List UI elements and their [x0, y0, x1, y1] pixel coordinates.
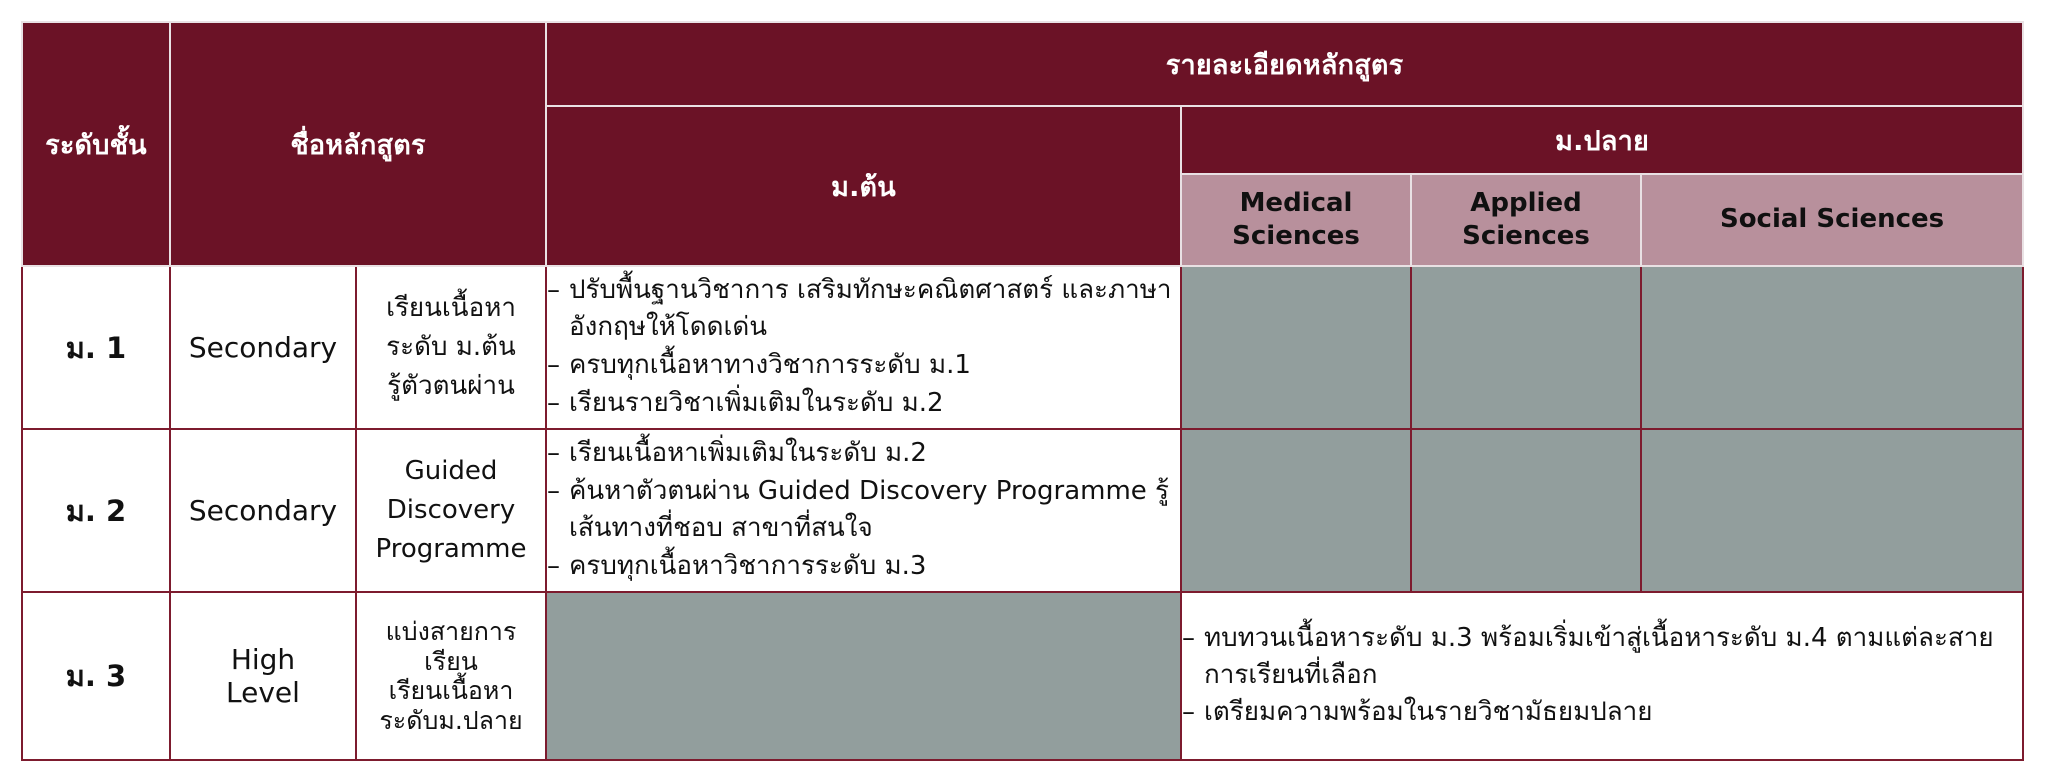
description-line: เรียน	[357, 647, 545, 677]
cell-track-applied-empty	[1411, 429, 1641, 592]
bullet-dash: –	[547, 385, 560, 422]
detail-list: –เรียนเนื้อหาเพิ่มเติมในระดับ ม.2 –ค้นหา…	[547, 435, 1180, 585]
list-item: –ปรับพื้นฐานวิชาการ เสริมทักษะคณิตศาสตร์…	[547, 272, 1180, 346]
header-track-social-sciences: Social Sciences	[1641, 174, 2023, 266]
description-line: Discovery	[357, 491, 545, 530]
cell-description: เรียนเนื้อหา ระดับ ม.ต้น รู้ตัวตนผ่าน	[356, 266, 546, 429]
curriculum-table-page: ระดับชั้น ชื่อหลักสูตร รายละเอียดหลักสูต…	[0, 0, 2048, 784]
list-item-text: เรียนรายวิชาเพิ่มเติมในระดับ ม.2	[569, 388, 944, 418]
table-body: ม. 1 Secondary เรียนเนื้อหา ระดับ ม.ต้น …	[22, 266, 2023, 760]
bullet-dash: –	[547, 347, 560, 384]
bullet-dash: –	[547, 272, 560, 309]
table-row: ม. 2 Secondary Guided Discovery Programm…	[22, 429, 2023, 592]
bullet-dash: –	[1182, 694, 1195, 731]
cell-level: ม. 1	[22, 266, 170, 429]
description-line: ระดับ ม.ต้น	[357, 328, 545, 367]
list-item-text: ครบทุกเนื้อหาวิชาการระดับ ม.3	[569, 551, 926, 581]
header-course-name: ชื่อหลักสูตร	[170, 22, 546, 266]
programme-line: High	[171, 643, 355, 676]
list-item-text: ค้นหาตัวตนผ่าน Guided Discovery Programm…	[569, 476, 1169, 543]
list-item-text: เตรียมความพร้อมในรายวิชามัธยมปลาย	[1204, 697, 1652, 727]
list-item-text: ปรับพื้นฐานวิชาการ เสริมทักษะคณิตศาสตร์ …	[569, 275, 1171, 342]
description-line: รู้ตัวตนผ่าน	[357, 367, 545, 406]
header-upper-secondary: ม.ปลาย	[1181, 106, 2023, 174]
bullet-dash: –	[1182, 620, 1195, 657]
cell-track-social-empty	[1641, 266, 2023, 429]
table-head: ระดับชั้น ชื่อหลักสูตร รายละเอียดหลักสูต…	[22, 22, 2023, 266]
bullet-dash: –	[547, 548, 560, 585]
cell-programme: Secondary	[170, 429, 356, 592]
cell-track-medical-empty	[1181, 429, 1411, 592]
cell-upper-secondary-detail: –ทบทวนเนื้อหาระดับ ม.3 พร้อมเริ่มเข้าสู่…	[1181, 592, 2023, 760]
header-track-applied-sciences: Applied Sciences	[1411, 174, 1641, 266]
list-item-text: เรียนเนื้อหาเพิ่มเติมในระดับ ม.2	[569, 438, 927, 468]
cell-programme: Secondary	[170, 266, 356, 429]
description-line: เรียนเนื้อหา	[357, 289, 545, 328]
programme-line: Level	[171, 676, 355, 709]
cell-description: Guided Discovery Programme	[356, 429, 546, 592]
header-curriculum-detail: รายละเอียดหลักสูตร	[546, 22, 2023, 106]
header-track-medical-sciences: Medical Sciences	[1181, 174, 1411, 266]
cell-description: แบ่งสายการ เรียน เรียนเนื้อหา ระดับม.ปลา…	[356, 592, 546, 760]
cell-level: ม. 3	[22, 592, 170, 760]
cell-programme: High Level	[170, 592, 356, 760]
list-item: –ครบทุกเนื้อหาทางวิชาการระดับ ม.1	[547, 347, 1180, 384]
detail-list: –ทบทวนเนื้อหาระดับ ม.3 พร้อมเริ่มเข้าสู่…	[1182, 620, 2022, 732]
cell-track-applied-empty	[1411, 266, 1641, 429]
list-item-text: ครบทุกเนื้อหาทางวิชาการระดับ ม.1	[569, 350, 971, 380]
bullet-dash: –	[547, 473, 560, 510]
cell-lower-secondary-detail: –เรียนเนื้อหาเพิ่มเติมในระดับ ม.2 –ค้นหา…	[546, 429, 1181, 592]
cell-track-social-empty	[1641, 429, 2023, 592]
table-row: ม. 1 Secondary เรียนเนื้อหา ระดับ ม.ต้น …	[22, 266, 2023, 429]
detail-list: –ปรับพื้นฐานวิชาการ เสริมทักษะคณิตศาสตร์…	[547, 272, 1180, 422]
curriculum-comparison-table: ระดับชั้น ชื่อหลักสูตร รายละเอียดหลักสูต…	[21, 21, 2024, 761]
list-item: –เตรียมความพร้อมในรายวิชามัธยมปลาย	[1182, 694, 2022, 731]
list-item: –ครบทุกเนื้อหาวิชาการระดับ ม.3	[547, 548, 1180, 585]
header-row-1: ระดับชั้น ชื่อหลักสูตร รายละเอียดหลักสูต…	[22, 22, 2023, 106]
description-line: Guided	[357, 452, 545, 491]
header-lower-secondary: ม.ต้น	[546, 106, 1181, 266]
description-line: ระดับม.ปลาย	[357, 706, 545, 736]
header-level: ระดับชั้น	[22, 22, 170, 266]
cell-lower-secondary-detail: –ปรับพื้นฐานวิชาการ เสริมทักษะคณิตศาสตร์…	[546, 266, 1181, 429]
list-item: –เรียนรายวิชาเพิ่มเติมในระดับ ม.2	[547, 385, 1180, 422]
description-line: Programme	[357, 530, 545, 569]
table-row: ม. 3 High Level แบ่งสายการ เรียน เรียนเน…	[22, 592, 2023, 760]
list-item: –ทบทวนเนื้อหาระดับ ม.3 พร้อมเริ่มเข้าสู่…	[1182, 620, 2022, 694]
cell-lower-secondary-empty	[546, 592, 1181, 760]
list-item-text: ทบทวนเนื้อหาระดับ ม.3 พร้อมเริ่มเข้าสู่เ…	[1204, 623, 1994, 690]
description-line: แบ่งสายการ	[357, 617, 545, 647]
list-item: –เรียนเนื้อหาเพิ่มเติมในระดับ ม.2	[547, 435, 1180, 472]
description-line: เรียนเนื้อหา	[357, 676, 545, 706]
bullet-dash: –	[547, 435, 560, 472]
cell-track-medical-empty	[1181, 266, 1411, 429]
cell-level: ม. 2	[22, 429, 170, 592]
list-item: –ค้นหาตัวตนผ่าน Guided Discovery Program…	[547, 473, 1180, 547]
